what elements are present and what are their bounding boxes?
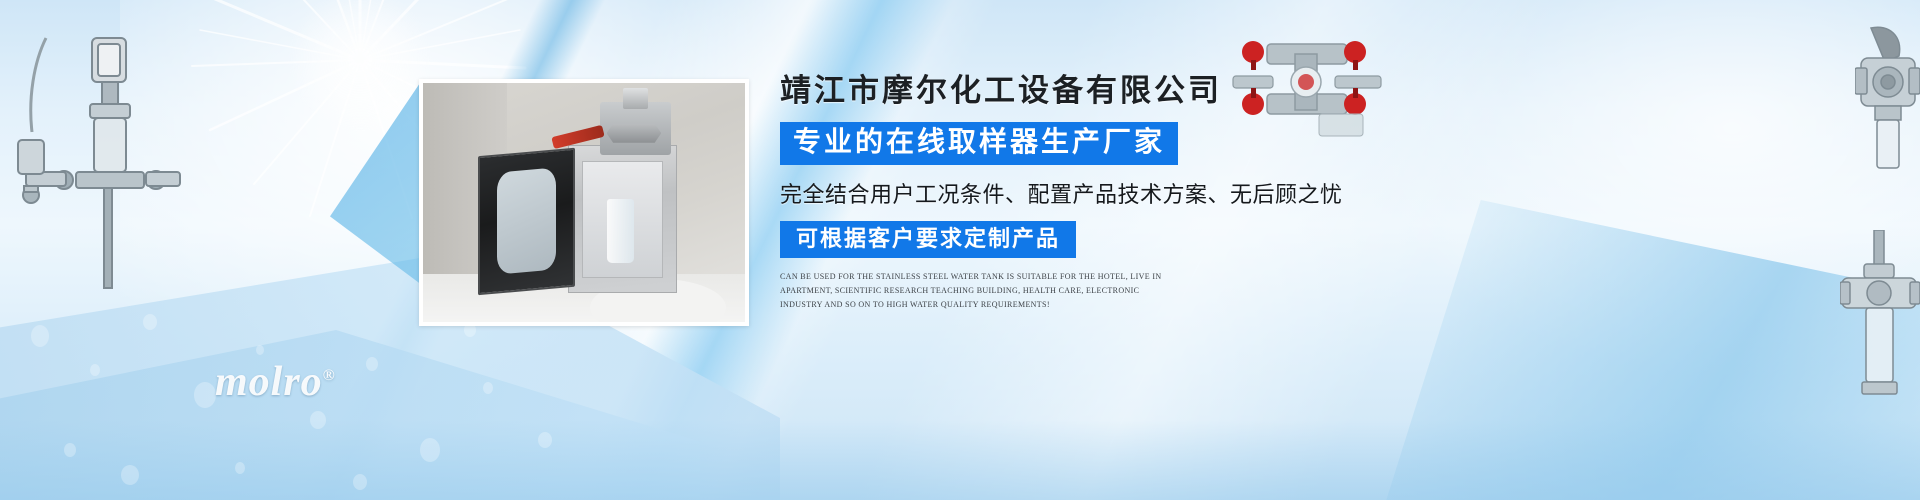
english-description: CAN BE USED FOR THE STAINLESS STEEL WATE… (780, 270, 1180, 312)
equipment-left-icon (6, 20, 186, 310)
watermark-text: molro (215, 359, 323, 405)
background-glow-right (1360, 0, 1920, 380)
registered-mark-icon: ® (323, 367, 336, 384)
background-plate-right (1380, 200, 1920, 500)
background-plate-bottom (0, 330, 700, 500)
description-line: 完全结合用户工况条件、配置产品技术方案、无后顾之忧 (780, 177, 1420, 209)
customization-cta-bar[interactable]: 可根据客户要求定制产品 (780, 221, 1076, 258)
brand-watermark: molro® (215, 358, 336, 406)
promo-banner: 靖江市摩尔化工设备有限公司 专业的在线取样器生产厂家 完全结合用户工况条件、配置… (0, 0, 1920, 500)
equipment-bottom-right-icon (1840, 230, 1920, 405)
banner-text-block: 靖江市摩尔化工设备有限公司 专业的在线取样器生产厂家 完全结合用户工况条件、配置… (780, 72, 1420, 312)
company-title: 靖江市摩尔化工设备有限公司 (780, 72, 1420, 111)
product-photo (419, 79, 749, 326)
tagline-highlight-bar: 专业的在线取样器生产厂家 (780, 122, 1178, 165)
equipment-far-right-icon (1855, 22, 1920, 182)
background-bottom-fade (0, 420, 1920, 500)
